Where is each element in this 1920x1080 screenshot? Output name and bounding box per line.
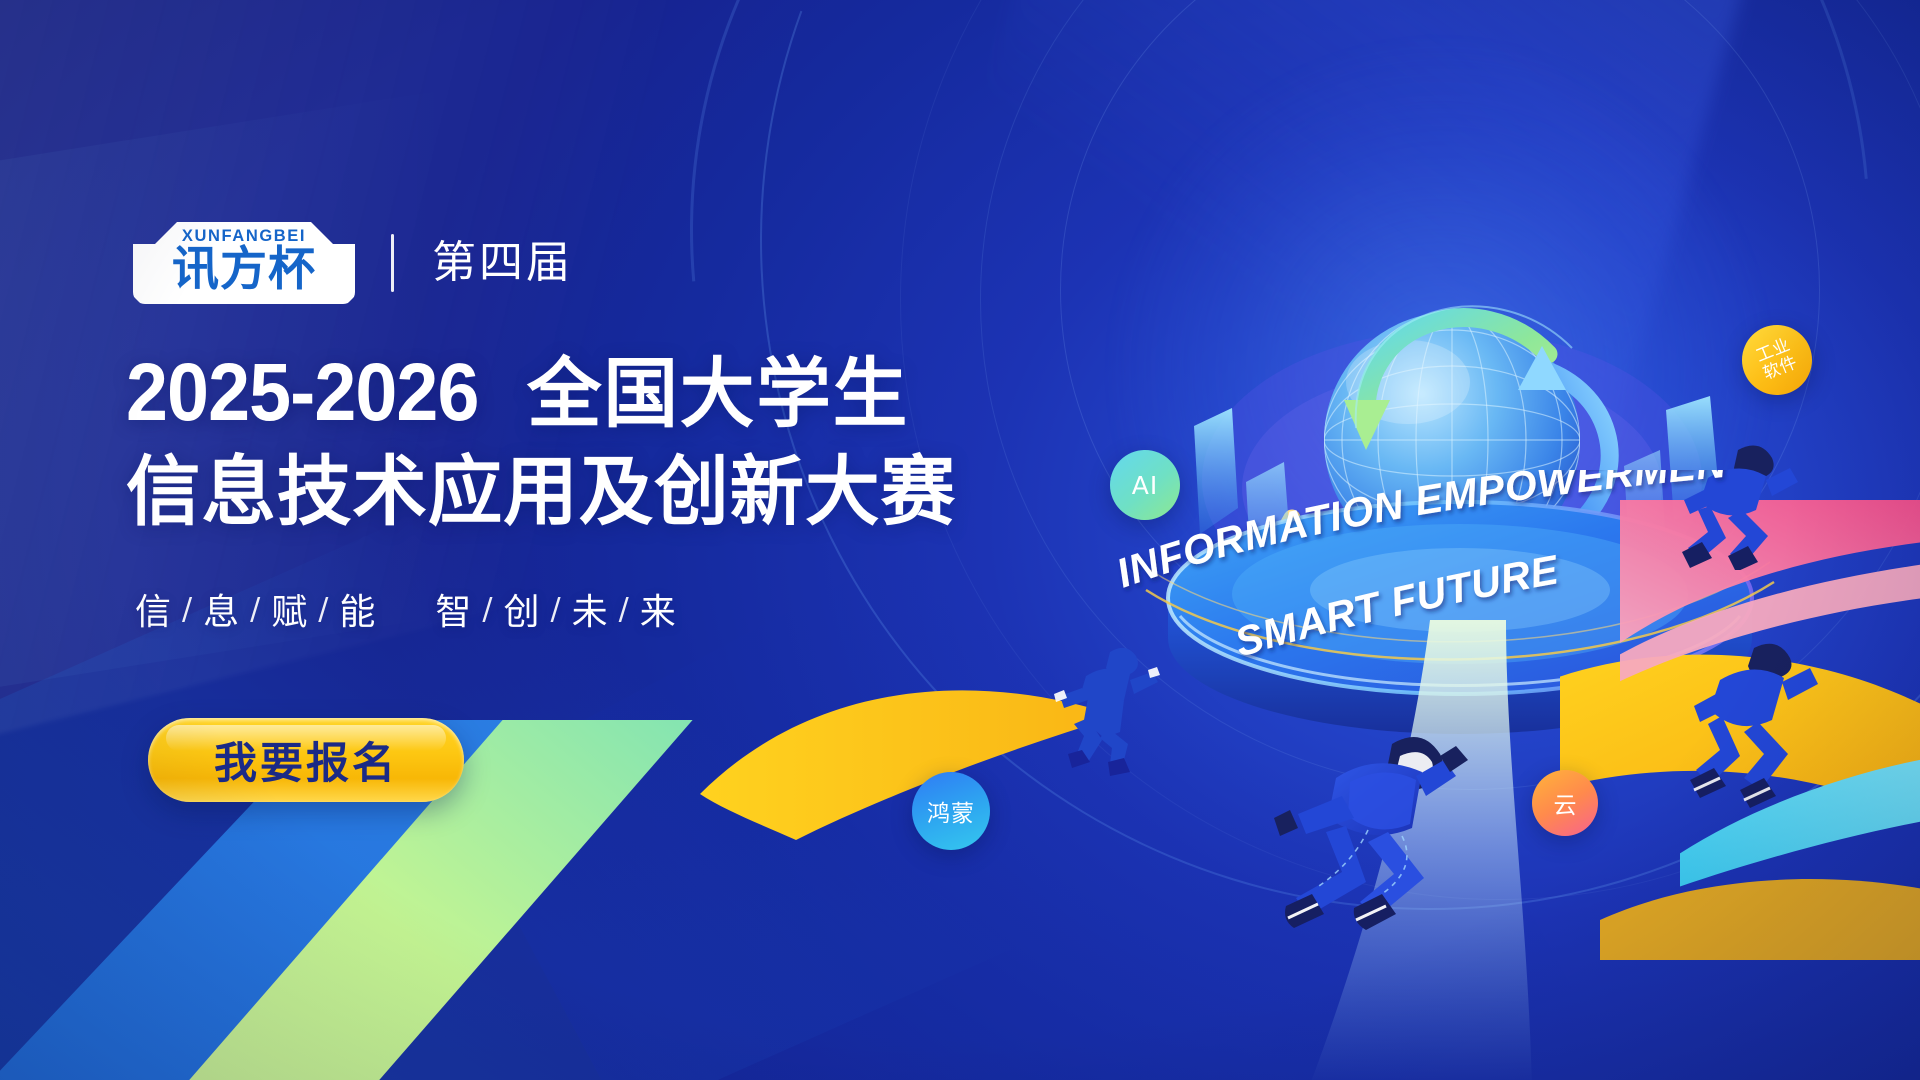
runner-figure-center	[1250, 700, 1470, 960]
tech-badge-cloud[interactable]: 云	[1532, 770, 1598, 836]
register-button[interactable]: 我要报名	[148, 718, 464, 802]
tagline-group2-char: 智	[435, 583, 473, 635]
edition-label: 第四届	[432, 238, 573, 288]
logo-badge[interactable]: XUNFANGBEI 讯方杯	[133, 222, 355, 304]
tagline-group2-char: 未	[572, 583, 610, 635]
tagline-group2-separator: /	[551, 592, 563, 627]
page-title: 2025-2026 全国大学生 信息技术应用及创新大赛	[126, 352, 973, 530]
logo-divider	[391, 234, 394, 292]
logo-chinese-name: 讯方杯	[172, 243, 316, 297]
tagline-group2-char: 创	[504, 583, 542, 635]
title-subject: 全国大学生	[527, 356, 909, 432]
title-main: 信息技术应用及创新大赛	[126, 454, 956, 530]
tagline-group1-char: 息	[203, 583, 241, 635]
tech-badge-harmony-label: 鸿蒙	[927, 794, 975, 828]
tagline-group1-char: 赋	[271, 583, 309, 635]
title-years: 2025-2026	[126, 352, 479, 434]
tech-badge-ai[interactable]: AI	[1110, 450, 1180, 520]
tagline-group2-separator: /	[482, 592, 494, 627]
runner-figure-top-right	[1680, 440, 1800, 570]
tech-badge-cloud-label: 云	[1554, 786, 1577, 820]
tagline-group1-separator: /	[182, 592, 194, 627]
tagline-group1-char: 信	[135, 583, 173, 635]
tech-badge-ai-label: AI	[1132, 471, 1158, 500]
brand-logo-block[interactable]: XUNFANGBEI 讯方杯 第四届	[133, 222, 573, 304]
tagline-group1-char: 能	[339, 583, 377, 635]
tagline-group1-separator: /	[318, 592, 330, 627]
competition-banner: INFORMATION EMPOWERMENT SMART FUTURE AI …	[0, 0, 1920, 1080]
runner-figure-left	[1052, 636, 1162, 776]
tagline: 信/息/赋/能智/创/未/来	[135, 583, 678, 635]
runner-figure-bottom-right	[1690, 640, 1820, 810]
tagline-group2-separator: /	[619, 592, 631, 627]
register-button-label: 我要报名	[214, 729, 398, 791]
tech-badge-harmony[interactable]: 鸿蒙	[912, 772, 990, 850]
tagline-group1-separator: /	[250, 592, 262, 627]
tagline-group2-char: 来	[640, 583, 678, 635]
